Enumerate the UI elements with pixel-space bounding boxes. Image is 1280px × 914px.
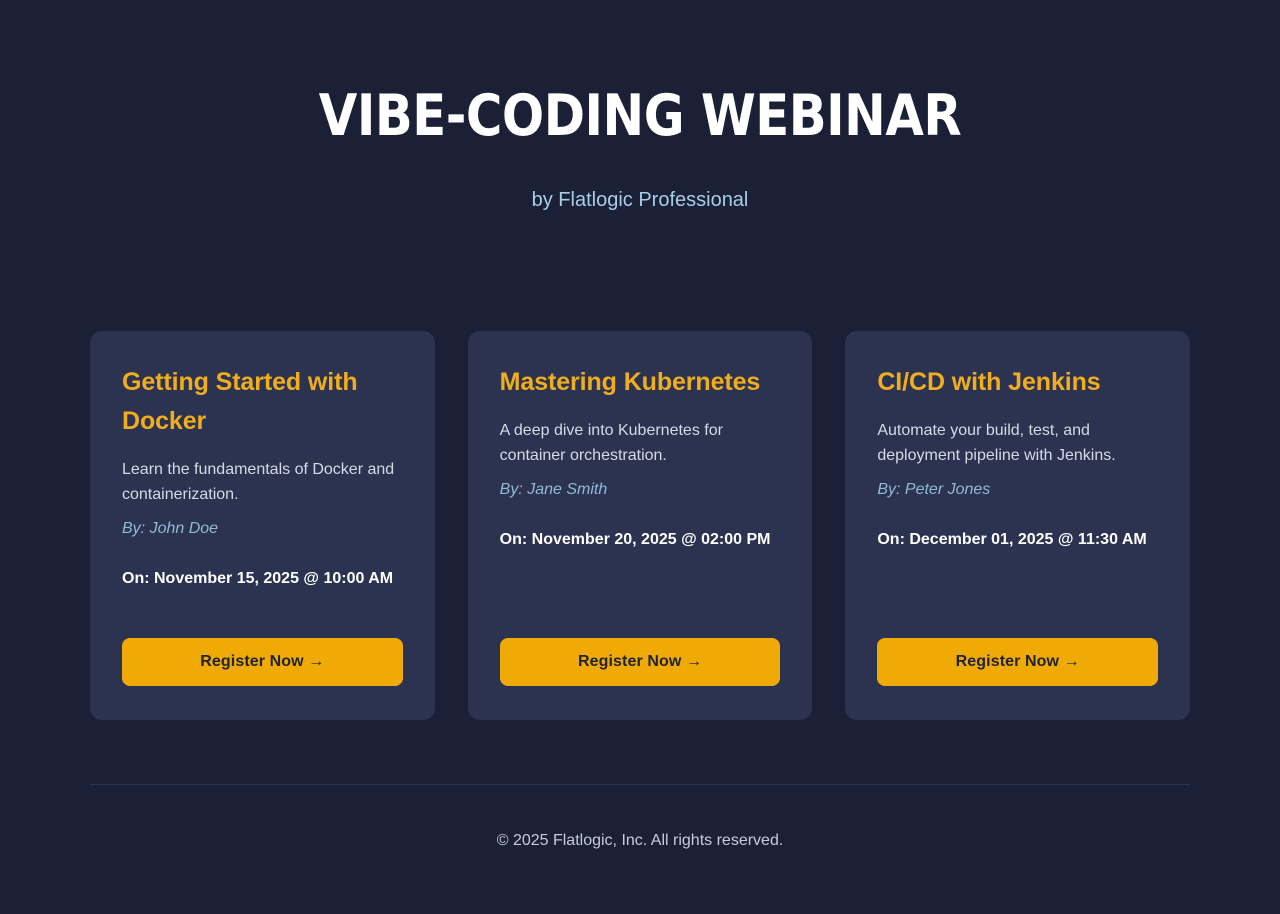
register-button[interactable]: Register Now →	[500, 638, 781, 686]
webinar-date: On: November 20, 2025 @ 02:00 PM	[500, 526, 781, 553]
webinar-title: Mastering Kubernetes	[500, 363, 781, 402]
webinar-card: CI/CD with Jenkins Automate your build, …	[845, 331, 1190, 720]
card-spacer	[877, 553, 1158, 638]
page-container: VIBE-CODING WEBINAR by Flatlogic Profess…	[90, 0, 1190, 852]
webinar-description: Automate your build, test, and deploymen…	[877, 418, 1158, 470]
webinar-description: A deep dive into Kubernetes for containe…	[500, 418, 781, 470]
webinar-card: Mastering Kubernetes A deep dive into Ku…	[468, 331, 813, 720]
card-spacer	[500, 553, 781, 638]
webinar-author: By: John Doe	[122, 518, 403, 540]
register-button[interactable]: Register Now →	[122, 638, 403, 686]
webinar-card: Getting Started with Docker Learn the fu…	[90, 331, 435, 720]
hero-section: VIBE-CODING WEBINAR by Flatlogic Profess…	[90, 84, 1190, 214]
webinar-card-list: Getting Started with Docker Learn the fu…	[90, 331, 1190, 720]
page-footer: © 2025 Flatlogic, Inc. All rights reserv…	[90, 784, 1190, 852]
footer-copyright: © 2025 Flatlogic, Inc. All rights reserv…	[90, 830, 1190, 852]
webinar-date: On: November 15, 2025 @ 10:00 AM	[122, 565, 403, 592]
webinar-title: Getting Started with Docker	[122, 363, 403, 441]
webinar-date: On: December 01, 2025 @ 11:30 AM	[877, 526, 1158, 553]
webinar-author: By: Jane Smith	[500, 479, 781, 501]
webinar-author: By: Peter Jones	[877, 479, 1158, 501]
register-button[interactable]: Register Now →	[877, 638, 1158, 686]
webinar-title: CI/CD with Jenkins	[877, 363, 1158, 402]
page-title: VIBE-CODING WEBINAR	[107, 84, 1174, 150]
page-subtitle: by Flatlogic Professional	[90, 186, 1190, 214]
card-spacer	[122, 592, 403, 638]
webinar-description: Learn the fundamentals of Docker and con…	[122, 457, 403, 509]
